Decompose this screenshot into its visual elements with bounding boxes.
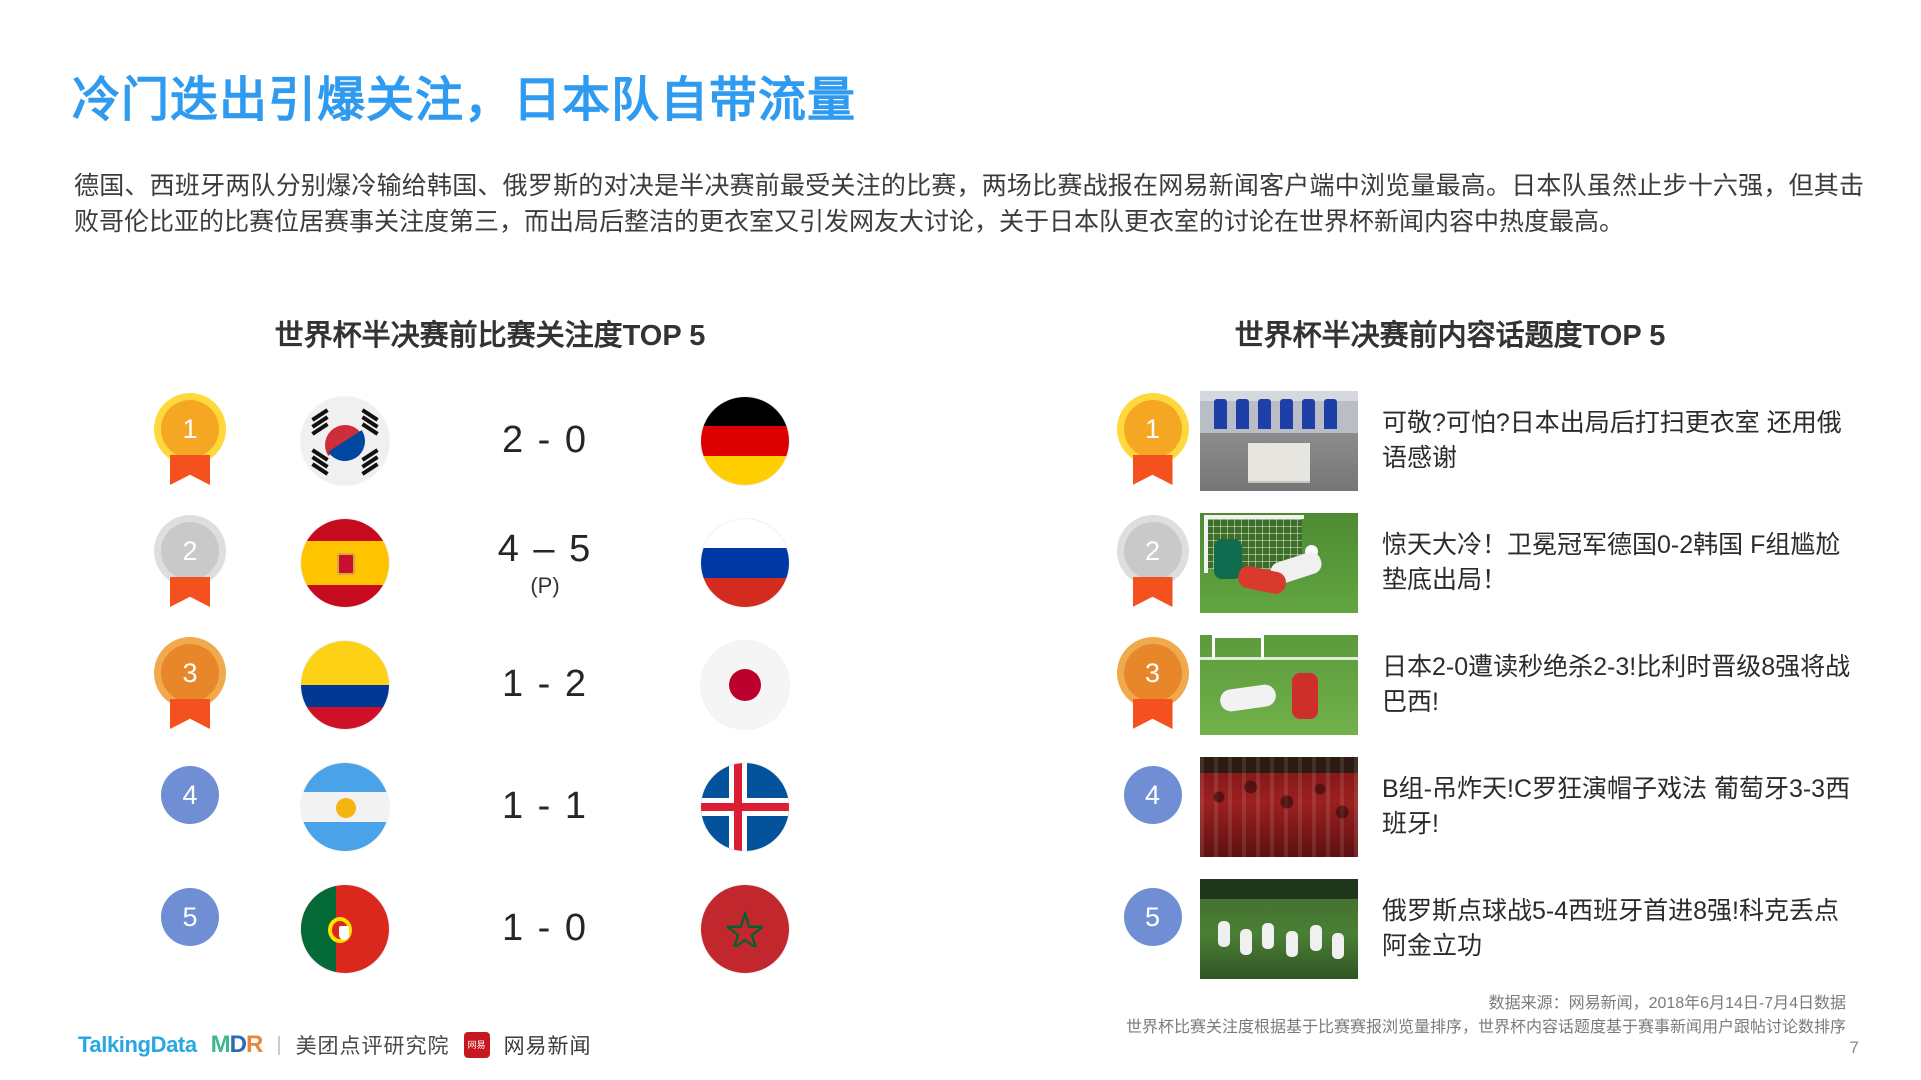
match-score: 1 - 1 xyxy=(440,785,650,828)
source-line-2: 世界杯比赛关注度根据基于比赛赛报浏览量排序，世界杯内容话题度基于赛事新闻用户跟帖… xyxy=(1126,1016,1846,1040)
topic-thumbnail-locker-room[interactable] xyxy=(1200,391,1358,491)
match-score: 2 - 0 xyxy=(440,419,650,462)
intro-paragraph: 德国、西班牙两队分别爆冷输给韩国、俄罗斯的对决是半决赛前最受关注的比赛，两场比赛… xyxy=(74,168,1864,240)
rank-cell: 5 xyxy=(130,888,250,970)
netease-mark-icon: 网易 xyxy=(464,1032,490,1058)
medal-gold-icon: 1 xyxy=(1124,400,1182,482)
rank-cell: 2 xyxy=(1105,522,1200,604)
score-cell: 2 - 0 xyxy=(440,419,650,464)
rank-number: 3 xyxy=(1124,644,1182,702)
rank-badge-4: 4 xyxy=(161,766,219,848)
flag-germany-icon xyxy=(701,397,789,485)
rank-badge-4: 4 xyxy=(1124,766,1182,848)
ribbon-icon xyxy=(1133,577,1173,607)
home-flag-cell xyxy=(250,885,440,973)
away-flag-cell xyxy=(650,763,840,851)
section-heading-matches: 世界杯半决赛前比赛关注度TOP 5 xyxy=(180,312,800,354)
home-flag-cell xyxy=(250,397,440,485)
away-flag-cell xyxy=(650,519,840,607)
page-title: 冷门迭出引爆关注，日本队自带流量 xyxy=(72,60,856,130)
mdr-logo: MDR xyxy=(211,1031,263,1059)
rank-number: 3 xyxy=(161,644,219,702)
source-line-1: 数据来源：网易新闻，2018年6月14日-7月4日数据 xyxy=(1126,992,1846,1016)
ribbon-icon xyxy=(1133,699,1173,729)
home-flag-cell xyxy=(250,519,440,607)
section-heading-topics: 世界杯半决赛前内容话题度TOP 5 xyxy=(1100,312,1800,354)
rank-badge-5: 5 xyxy=(1124,888,1182,970)
flag-japan-icon xyxy=(701,641,789,729)
rank-number: 1 xyxy=(1124,400,1182,458)
score-cell: 4 – 5 (P) xyxy=(440,528,650,599)
rank-cell: 3 xyxy=(1105,644,1200,726)
footer-logos: TalkingData MDR | 美团点评研究院 网易 网易新闻 xyxy=(78,1030,592,1060)
medal-gold-icon: 1 xyxy=(161,400,219,482)
rank-number: 2 xyxy=(161,522,219,580)
rank-number: 5 xyxy=(161,888,219,946)
ribbon-icon xyxy=(170,699,210,729)
medal-silver-icon: 2 xyxy=(161,522,219,604)
ribbon-icon xyxy=(1133,455,1173,485)
rank-cell: 1 xyxy=(130,400,250,482)
list-item[interactable]: 5 俄罗斯点球战5-4西班牙首进8强!科克丢点阿金立功 xyxy=(1105,868,1905,990)
topic-title: B组-吊炸天!C罗狂演帽子戏法 葡萄牙3-3西班牙! xyxy=(1382,772,1852,842)
table-row[interactable]: 4 1 - 1 xyxy=(130,746,850,868)
rank-number: 1 xyxy=(161,400,219,458)
flag-spain-icon xyxy=(301,519,389,607)
home-flag-cell xyxy=(250,641,440,729)
match-score: 4 – 5 xyxy=(440,528,650,571)
away-flag-cell xyxy=(650,641,840,729)
topic-thumbnail-pitch-tackle[interactable] xyxy=(1200,635,1358,735)
topic-discussion-list: 1 可敬?可怕?日本出局后打扫更衣室 还用俄语感谢 2 xyxy=(1105,380,1905,990)
page-number: 7 xyxy=(1850,1038,1859,1058)
flag-colombia-icon xyxy=(301,641,389,729)
flag-argentina-icon xyxy=(301,763,389,851)
flag-iceland-icon xyxy=(701,763,789,851)
ribbon-icon xyxy=(170,577,210,607)
topic-title: 可敬?可怕?日本出局后打扫更衣室 还用俄语感谢 xyxy=(1382,406,1852,476)
rank-cell: 2 xyxy=(130,522,250,604)
away-flag-cell xyxy=(650,885,840,973)
meituan-research-logo: 美团点评研究院 xyxy=(296,1030,450,1060)
match-score: 1 - 0 xyxy=(440,907,650,950)
topic-title: 惊天大冷！卫冕冠军德国0-2韩国 F组尴尬垫底出局！ xyxy=(1382,528,1852,598)
rank-cell: 3 xyxy=(130,644,250,726)
flag-russia-icon xyxy=(701,519,789,607)
rank-cell: 1 xyxy=(1105,400,1200,482)
medal-silver-icon: 2 xyxy=(1124,522,1182,604)
flag-south-korea-icon xyxy=(301,397,389,485)
slide-page: 冷门迭出引爆关注，日本队自带流量 德国、西班牙两队分别爆冷输给韩国、俄罗斯的对决… xyxy=(0,0,1921,1080)
score-cell: 1 - 0 xyxy=(440,907,650,952)
away-flag-cell xyxy=(650,397,840,485)
rank-number: 2 xyxy=(1124,522,1182,580)
rank-number: 4 xyxy=(161,766,219,824)
list-item[interactable]: 1 可敬?可怕?日本出局后打扫更衣室 还用俄语感谢 xyxy=(1105,380,1905,502)
topic-title: 俄罗斯点球战5-4西班牙首进8强!科克丢点阿金立功 xyxy=(1382,894,1852,964)
match-score-note: (P) xyxy=(440,573,650,599)
topic-thumbnail-crowd[interactable] xyxy=(1200,757,1358,857)
score-cell: 1 - 1 xyxy=(440,785,650,830)
rank-number: 4 xyxy=(1124,766,1182,824)
list-item[interactable]: 2 惊天大冷！卫冕冠军德国0-2韩国 F组尴尬垫底出局！ xyxy=(1105,502,1905,624)
score-cell: 1 - 2 xyxy=(440,663,650,708)
flag-portugal-icon xyxy=(301,885,389,973)
topic-thumbnail-celebration[interactable] xyxy=(1200,879,1358,979)
topic-title: 日本2-0遭读秒绝杀2-3!比利时晋级8强将战巴西! xyxy=(1382,650,1852,720)
rank-cell: 4 xyxy=(130,766,250,848)
table-row[interactable]: 3 1 - 2 xyxy=(130,624,850,746)
rank-cell: 4 xyxy=(1105,766,1200,848)
table-row[interactable]: 5 1 - 0 xyxy=(130,868,850,990)
flag-morocco-icon xyxy=(701,885,789,973)
match-score: 1 - 2 xyxy=(440,663,650,706)
table-row[interactable]: 2 4 – 5 (P) xyxy=(130,502,850,624)
medal-bronze-icon: 3 xyxy=(1124,644,1182,726)
home-flag-cell xyxy=(250,763,440,851)
topic-thumbnail-goal-mouth[interactable] xyxy=(1200,513,1358,613)
rank-badge-5: 5 xyxy=(161,888,219,970)
source-note: 数据来源：网易新闻，2018年6月14日-7月4日数据 世界杯比赛关注度根据基于… xyxy=(1126,992,1846,1040)
medal-bronze-icon: 3 xyxy=(161,644,219,726)
talkingdata-logo: TalkingData xyxy=(78,1032,197,1058)
match-attention-list: 1 xyxy=(130,380,850,990)
ribbon-icon xyxy=(170,455,210,485)
list-item[interactable]: 3 日本2-0遭读秒绝杀2-3!比利时晋级8强将战巴西! xyxy=(1105,624,1905,746)
rank-cell: 5 xyxy=(1105,888,1200,970)
logo-divider: | xyxy=(276,1034,281,1057)
rank-number: 5 xyxy=(1124,888,1182,946)
list-item[interactable]: 4 B组-吊炸天!C罗狂演帽子戏法 葡萄牙3-3西班牙! xyxy=(1105,746,1905,868)
netease-news-logo: 网易新闻 xyxy=(504,1030,592,1060)
table-row[interactable]: 1 xyxy=(130,380,850,502)
